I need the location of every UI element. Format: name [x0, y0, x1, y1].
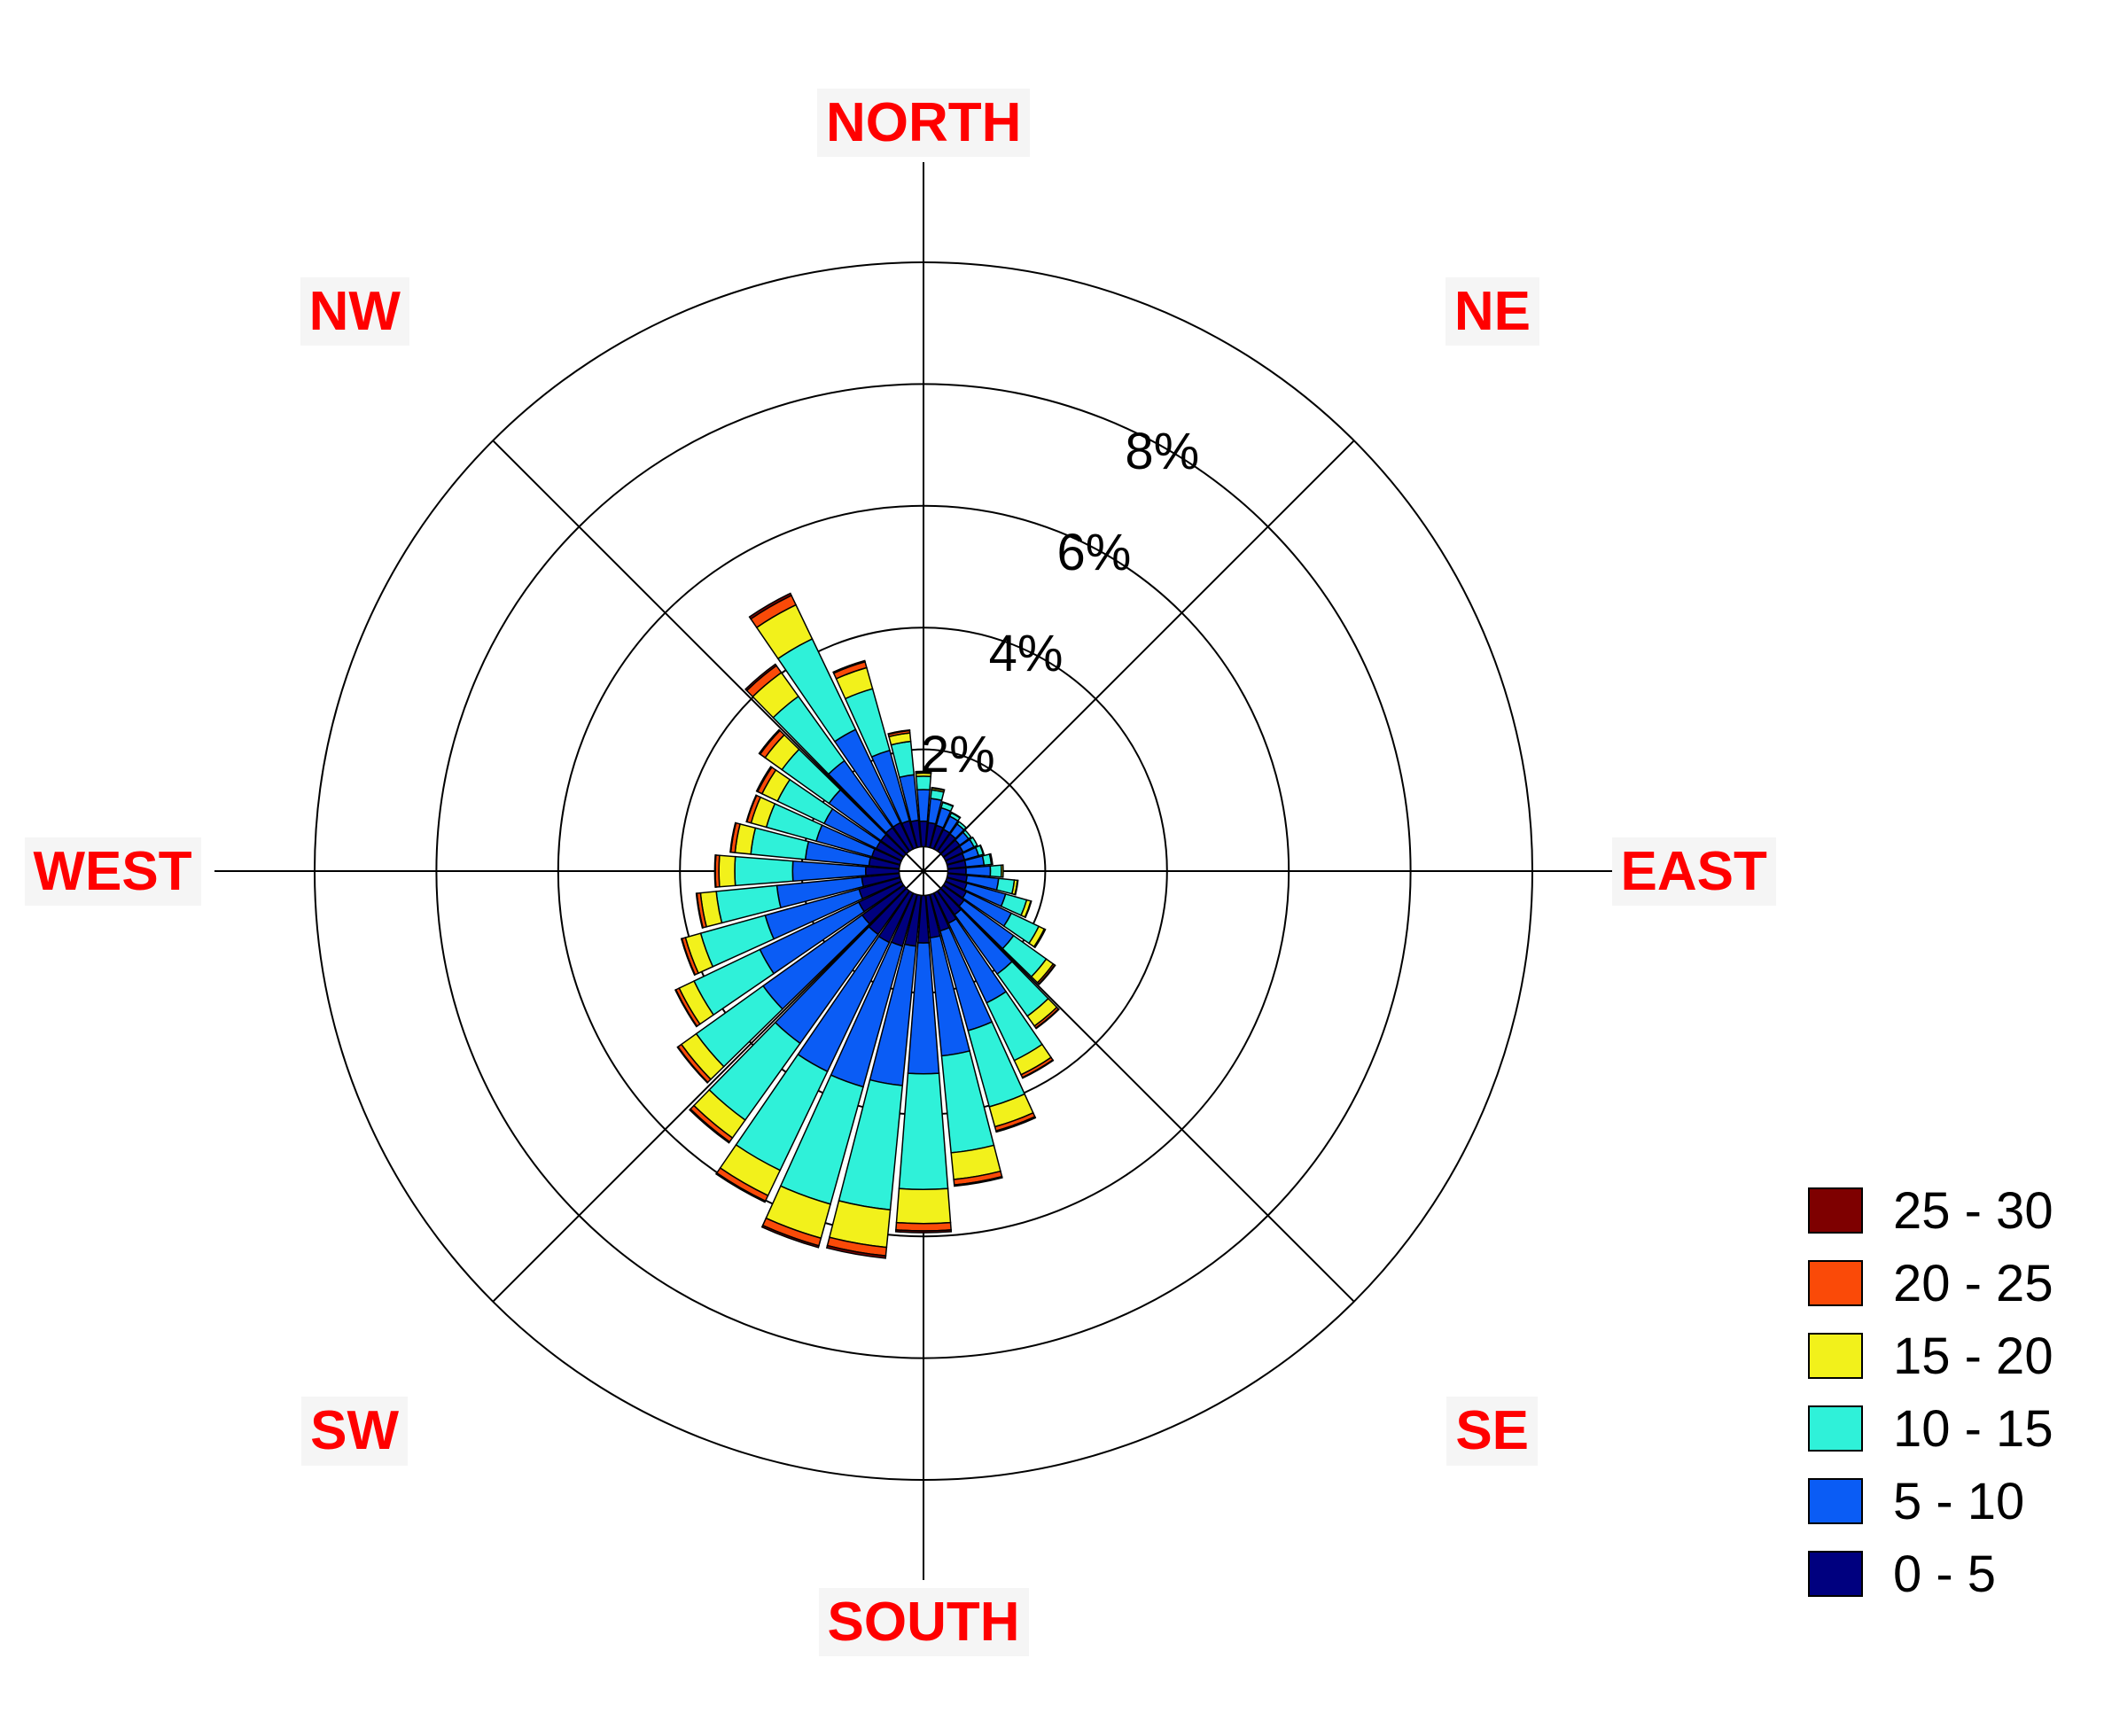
radial-tick-label-2pct: 2%: [921, 725, 995, 784]
direction-label-south: SOUTH: [819, 1588, 1029, 1656]
legend-item[interactable]: 10 - 15: [1808, 1392, 2053, 1465]
wind-rose-sector: [917, 790, 930, 821]
radial-tick-label-4pct: 4%: [989, 624, 1064, 683]
legend-swatch: [1808, 1187, 1863, 1234]
wind-rose-figure: NORTH NE EAST SE SOUTH SW WEST NW 2% 4% …: [0, 0, 2104, 1736]
legend-label: 5 - 10: [1893, 1472, 2024, 1531]
legend-swatch: [1808, 1551, 1863, 1597]
legend-item[interactable]: 0 - 5: [1808, 1537, 2053, 1610]
radial-tick-label-6pct: 6%: [1056, 523, 1131, 582]
legend-label: 25 - 30: [1893, 1181, 2053, 1241]
wind-rose-sector: [990, 865, 1001, 876]
direction-label-northeast: NE: [1446, 277, 1539, 346]
direction-label-east: EAST: [1612, 837, 1776, 906]
legend-swatch: [1808, 1478, 1863, 1524]
direction-label-southeast: SE: [1446, 1397, 1538, 1465]
legend-item[interactable]: 25 - 30: [1808, 1174, 2053, 1247]
legend-label: 10 - 15: [1893, 1399, 2053, 1459]
radial-tick-label-8pct: 8%: [1125, 422, 1199, 481]
legend-swatch: [1808, 1260, 1863, 1306]
legend-item[interactable]: 20 - 25: [1808, 1247, 2053, 1320]
wind-rose-sector: [896, 1230, 952, 1233]
legend: 25 - 3020 - 2515 - 2010 - 155 - 100 - 5: [1808, 1174, 2053, 1610]
direction-label-west: WEST: [25, 837, 201, 906]
legend-item[interactable]: 5 - 10: [1808, 1465, 2053, 1537]
wind-rose-plot: [0, 0, 2104, 1736]
legend-label: 20 - 25: [1893, 1254, 2053, 1313]
direction-label-southwest: SW: [301, 1397, 408, 1465]
wind-rose-sector: [714, 855, 715, 887]
legend-swatch: [1808, 1333, 1863, 1379]
legend-label: 15 - 20: [1893, 1327, 2053, 1386]
wind-rose-sector: [1001, 865, 1003, 877]
legend-label: 0 - 5: [1893, 1545, 1996, 1604]
wind-rose-sector: [896, 1188, 950, 1224]
grid-layer: [214, 162, 1633, 1580]
wind-rose-sector: [899, 1073, 947, 1189]
wind-rose-sector: [735, 857, 793, 886]
wind-rose-sector: [997, 878, 1015, 893]
grid-spoke: [493, 440, 923, 871]
wind-rose-sector: [719, 855, 735, 886]
legend-swatch: [1808, 1405, 1863, 1452]
wind-rose-sector: [896, 1223, 951, 1231]
direction-label-northwest: NW: [300, 277, 409, 346]
wind-rose-sector: [966, 866, 991, 876]
direction-label-north: NORTH: [817, 89, 1030, 157]
legend-item[interactable]: 15 - 20: [1808, 1320, 2053, 1392]
petal-layer: [675, 594, 1059, 1258]
